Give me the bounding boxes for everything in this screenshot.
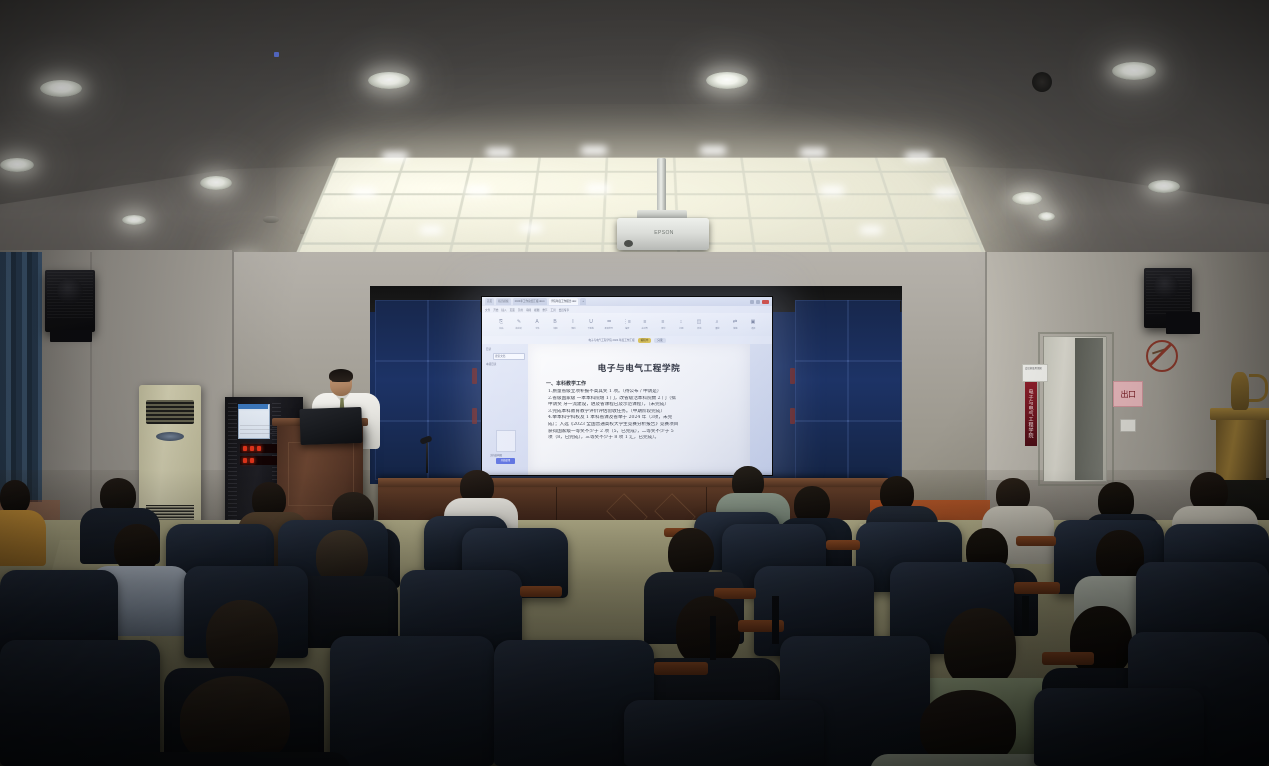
projector-mount-pole	[657, 158, 666, 214]
audience-head	[668, 528, 714, 578]
backdrop-accent	[790, 408, 795, 424]
downlight-icon	[200, 176, 232, 190]
ribbon-label: 格式刷	[516, 326, 522, 329]
seat-armrest	[826, 540, 860, 550]
downlight-icon	[1038, 212, 1055, 221]
align-center-icon: ≡	[662, 319, 665, 325]
projector-brand-label: EPSON	[650, 230, 678, 236]
seat-armrest	[654, 662, 708, 675]
wall-socket[interactable]	[1120, 419, 1136, 432]
wps-right-pane	[750, 344, 772, 475]
ribbon-button-find[interactable]: ⌕查找	[710, 319, 724, 330]
close-icon[interactable]	[762, 300, 769, 304]
ribbon-button-replace[interactable]: ⇄替换	[728, 319, 742, 330]
wps-tab[interactable]: 稻壳模板	[496, 298, 510, 305]
ribbon-label: 左对齐	[642, 326, 648, 329]
projector-lens-icon	[624, 240, 633, 247]
air-conditioner-louver	[146, 400, 194, 424]
bullet-list-icon: ≔	[607, 319, 612, 325]
brass-ornament-figure	[1231, 372, 1249, 410]
rack-slot	[228, 400, 237, 520]
ribbon-label: 查找	[715, 326, 719, 329]
backdrop-tile	[795, 420, 849, 480]
light-hotspot	[934, 188, 958, 197]
document-paragraph: 4.举本科学科校及 1 本科省课及省举于 2024 年（3项，未完	[548, 415, 740, 422]
menu-item[interactable]: 引用	[518, 308, 523, 312]
ribbon-label: 项目符号	[605, 326, 613, 329]
backdrop-tile	[795, 300, 849, 362]
document-title: 电子与电气工程学院	[538, 362, 740, 374]
menu-item[interactable]: 审阅	[526, 308, 531, 312]
menu-item[interactable]: 文件	[485, 308, 490, 312]
document-paragraph: 3.完成本科教育教学评价评估验收任务。（中期阶段完成）	[548, 409, 740, 416]
seat-armrest	[1016, 536, 1056, 546]
downlight-icon	[706, 72, 748, 89]
ribbon-label: 样式	[697, 326, 701, 329]
led-indicator	[243, 446, 247, 451]
microphone-stand	[426, 443, 428, 473]
edit-mode-chip[interactable]: 编辑中	[638, 338, 652, 343]
backdrop-accent	[790, 368, 795, 384]
audience-head	[676, 596, 740, 666]
wps-tab-active[interactable]: 学院年度工作报告.doc	[549, 298, 579, 305]
wps-menubar: 文件 开始 插入 页面 引用 审阅 视图 章节 工具 会员专享	[482, 306, 772, 313]
no-smoking-icon	[1146, 340, 1178, 372]
door-opening	[1075, 338, 1103, 480]
ribbon-button-numbering[interactable]: ⋮≡编号	[620, 319, 634, 330]
window-controls[interactable]	[750, 300, 769, 304]
backdrop-accent	[472, 368, 477, 384]
backdrop-tile	[795, 360, 849, 422]
light-hotspot	[581, 146, 607, 155]
ribbon-label: 加粗	[553, 326, 557, 329]
ribbon-label: 编号	[625, 326, 629, 329]
underline-icon: U	[589, 319, 593, 325]
document-heading: 一、本科教学工作	[546, 380, 740, 387]
backdrop-tile	[427, 300, 482, 362]
bold-icon: B	[553, 319, 556, 325]
rack-led-display	[240, 456, 282, 465]
seat-leg	[1022, 596, 1029, 636]
italic-icon: I	[572, 319, 573, 325]
audience-head	[1070, 606, 1132, 676]
rack-notice-header	[238, 404, 268, 409]
exit-sign: 出口	[1113, 381, 1143, 407]
light-hotspot	[382, 152, 408, 161]
ribbon-button-paste[interactable]: ⎘粘贴	[494, 319, 508, 330]
backdrop-tile	[847, 420, 902, 480]
menu-item[interactable]: 视图	[534, 308, 539, 312]
presenter-glasses-icon	[332, 381, 350, 386]
audience-torso	[0, 510, 46, 566]
ribbon-button-format-painter[interactable]: ✎格式刷	[512, 319, 526, 330]
light-hotspot	[352, 188, 376, 197]
projection-screen[interactable]: 首页 稻壳模板 2024年工作总结汇报.docx 学院年度工作报告.doc + …	[482, 297, 772, 475]
format-painter-icon: ✎	[517, 319, 521, 325]
light-hotspot	[860, 226, 882, 234]
read-mode-chip[interactable]: 只读	[654, 338, 665, 343]
brass-ornament-base	[1216, 420, 1266, 480]
loudspeaker-cone-icon	[57, 278, 83, 304]
seat-leg	[772, 596, 779, 644]
auditorium-presentation-photo: EPSON 会议室使用须知 电子与电气工程学院 出口	[0, 0, 1269, 766]
document-breadcrumb: 电子与电气工程学院 2024 年度工作汇报	[588, 338, 634, 342]
seat[interactable]	[1034, 688, 1204, 766]
ribbon-label: 粘贴	[499, 326, 503, 329]
loudspeaker-cone-icon	[1154, 274, 1179, 299]
sidebar-item[interactable]: 本级目录	[486, 361, 496, 366]
downlight-icon	[40, 80, 82, 97]
menu-item[interactable]: 开始	[493, 308, 498, 312]
downlight-icon	[122, 215, 146, 225]
audience-head	[206, 600, 278, 678]
maximize-icon[interactable]	[756, 300, 760, 304]
document-paragraph: 2.省级国家级 一本本科院增 1 门，改省级活本科院数 2 门（拟	[548, 396, 740, 403]
sidebar-search-placeholder: 搜索文档	[495, 353, 505, 358]
backdrop-accent	[472, 408, 477, 424]
backdrop-tile	[375, 360, 429, 422]
ribbon-button-bold[interactable]: B加粗	[548, 319, 562, 330]
wps-new-tab-button[interactable]: +	[580, 298, 586, 305]
backdrop-tile	[847, 360, 902, 422]
audience-head	[114, 524, 160, 572]
wps-navbar: 电子与电气工程学院 2024 年度工作汇报 编辑中 只读	[482, 336, 772, 344]
light-hotspot	[466, 186, 490, 195]
menu-item[interactable]: 插入	[501, 308, 506, 312]
smoke-detector-icon	[263, 216, 279, 223]
air-conditioner-badge	[156, 432, 184, 441]
notice-sign: 会议室使用须知	[1022, 364, 1048, 382]
light-hotspot	[820, 186, 844, 195]
light-hotspot	[486, 148, 512, 157]
backdrop-tile	[847, 300, 902, 362]
led-indicator	[250, 446, 254, 451]
light-hotspot	[905, 152, 931, 161]
seat[interactable]	[330, 636, 494, 766]
light-hotspot	[800, 148, 826, 157]
seat[interactable]	[0, 640, 160, 766]
seat[interactable]	[624, 700, 824, 766]
find-icon: ⌕	[716, 319, 719, 325]
select-icon: ▣	[751, 319, 756, 325]
menu-item[interactable]: 页面	[510, 308, 515, 312]
minimize-icon[interactable]	[750, 300, 754, 304]
menu-item[interactable]: 会员专享	[559, 308, 569, 312]
led-indicator	[243, 458, 247, 463]
ribbon-button-font[interactable]: A字体	[530, 319, 544, 330]
light-hotspot	[700, 146, 726, 155]
seat-armrest	[1014, 582, 1060, 594]
line-spacing-icon: ↕	[680, 319, 683, 325]
ribbon-label: 行距	[679, 326, 683, 329]
wps-titlebar: 首页 稻壳模板 2024年工作总结汇报.docx 学院年度工作报告.doc +	[482, 297, 772, 306]
seat-armrest	[1042, 652, 1094, 665]
ribbon-button-bullets[interactable]: ≔项目符号	[602, 319, 616, 330]
document-paragraph: 获得国家级一等奖不少于 2 项（5，已完成），二等奖不少于 5	[548, 429, 740, 436]
rack-led-display	[240, 444, 282, 453]
window-curtain	[0, 252, 42, 502]
backdrop-tile	[375, 420, 429, 480]
ribbon-label: 字体	[535, 326, 539, 329]
style-icon: ◫	[697, 319, 702, 325]
ribbon-button-select[interactable]: ▣选择	[746, 319, 760, 330]
ribbon-label: 居中	[661, 326, 665, 329]
audience-head	[0, 480, 30, 514]
department-banner-text: 电子与电气工程学院	[1028, 389, 1035, 439]
ribbon-label: 选择	[751, 326, 755, 329]
document-paragraph: 成）；入选《2023 全国普通高校大学生竞赛分析报告》竞赛项目	[548, 422, 740, 429]
number-list-icon: ⋮≡	[623, 319, 631, 325]
ribbon-label: 下划线	[588, 326, 594, 329]
downlight-icon	[1112, 62, 1156, 80]
downlight-icon	[1012, 192, 1042, 205]
light-hotspot	[586, 184, 610, 193]
ribbon-label: 倾斜	[571, 326, 575, 329]
ribbon-button-styles[interactable]: ◫样式	[692, 319, 706, 330]
ribbon-button-align-left[interactable]: ≡左对齐	[638, 319, 652, 330]
wps-tab[interactable]: 首页	[485, 298, 494, 305]
sidebar-thumb-caption: 文档结构图	[490, 452, 502, 457]
audience-head	[944, 608, 1016, 688]
wps-ribbon: ⎘粘贴 ✎格式刷 A字体 B加粗 I倾斜 U下划线 ≔项目符号 ⋮≡编号 ≡左对…	[482, 313, 772, 336]
loudspeaker-bracket	[50, 330, 92, 342]
sidebar-start-button[interactable]: 开始使用	[496, 458, 515, 464]
replace-icon: ⇄	[733, 319, 737, 325]
led-indicator	[250, 458, 254, 463]
backdrop-tile	[375, 300, 429, 362]
paste-icon: ⎘	[499, 319, 503, 325]
presenter-laptop[interactable]	[299, 407, 362, 445]
ribbon-button-underline[interactable]: U下划线	[584, 319, 598, 330]
audience-torso	[120, 752, 350, 766]
ribbon-button-align-center[interactable]: ≡居中	[656, 319, 670, 330]
downlight-icon	[1148, 180, 1180, 193]
document-paragraph: 申请奖 牙一流建设，进及省课程已及示范课程），（未完成）	[548, 402, 740, 409]
document-page[interactable]: 电子与电气工程学院 一、本科教学工作 1.质量省级立项补报不高其奖 1 项。（待…	[528, 344, 750, 475]
loudspeaker-bracket	[1166, 312, 1200, 334]
seat-armrest	[520, 586, 562, 597]
right-pane-icon[interactable]	[274, 52, 279, 57]
ribbon-label: 替换	[733, 326, 737, 329]
sidebar-heading: 目录	[486, 346, 491, 351]
wps-tab[interactable]: 2024年工作总结汇报.docx	[513, 298, 547, 305]
brass-ornament-handle	[1249, 374, 1268, 402]
exit-sign-text: 出口	[1121, 389, 1136, 400]
document-paragraph: 项（8，已完成），三等奖不少于 8 项 1 汇，已完成）。	[548, 435, 740, 442]
downlight-icon	[368, 72, 410, 89]
menu-item[interactable]: 工具	[551, 308, 556, 312]
led-indicator	[257, 446, 261, 451]
light-hotspot	[420, 226, 442, 234]
department-banner: 电子与电气工程学院	[1025, 382, 1037, 446]
light-hotspot	[520, 224, 542, 232]
menu-item[interactable]: 章节	[542, 308, 547, 312]
sidebar-thumbnail[interactable]	[496, 430, 516, 452]
font-icon: A	[535, 319, 538, 325]
downlight-icon	[1032, 72, 1052, 92]
align-left-icon: ≡	[644, 319, 647, 325]
seat-leg	[710, 616, 716, 660]
wps-sidebar: 目录 搜索文档 本级目录 文档结构图 开始使用	[482, 344, 528, 475]
document-paragraph: 1.质量省级立项补报不高其奖 1 项。（待公布 / 申请是）	[548, 389, 740, 396]
ribbon-button-line-spacing[interactable]: ↕行距	[674, 319, 688, 330]
downlight-icon	[0, 158, 34, 172]
ribbon-button-italic[interactable]: I倾斜	[566, 319, 580, 330]
